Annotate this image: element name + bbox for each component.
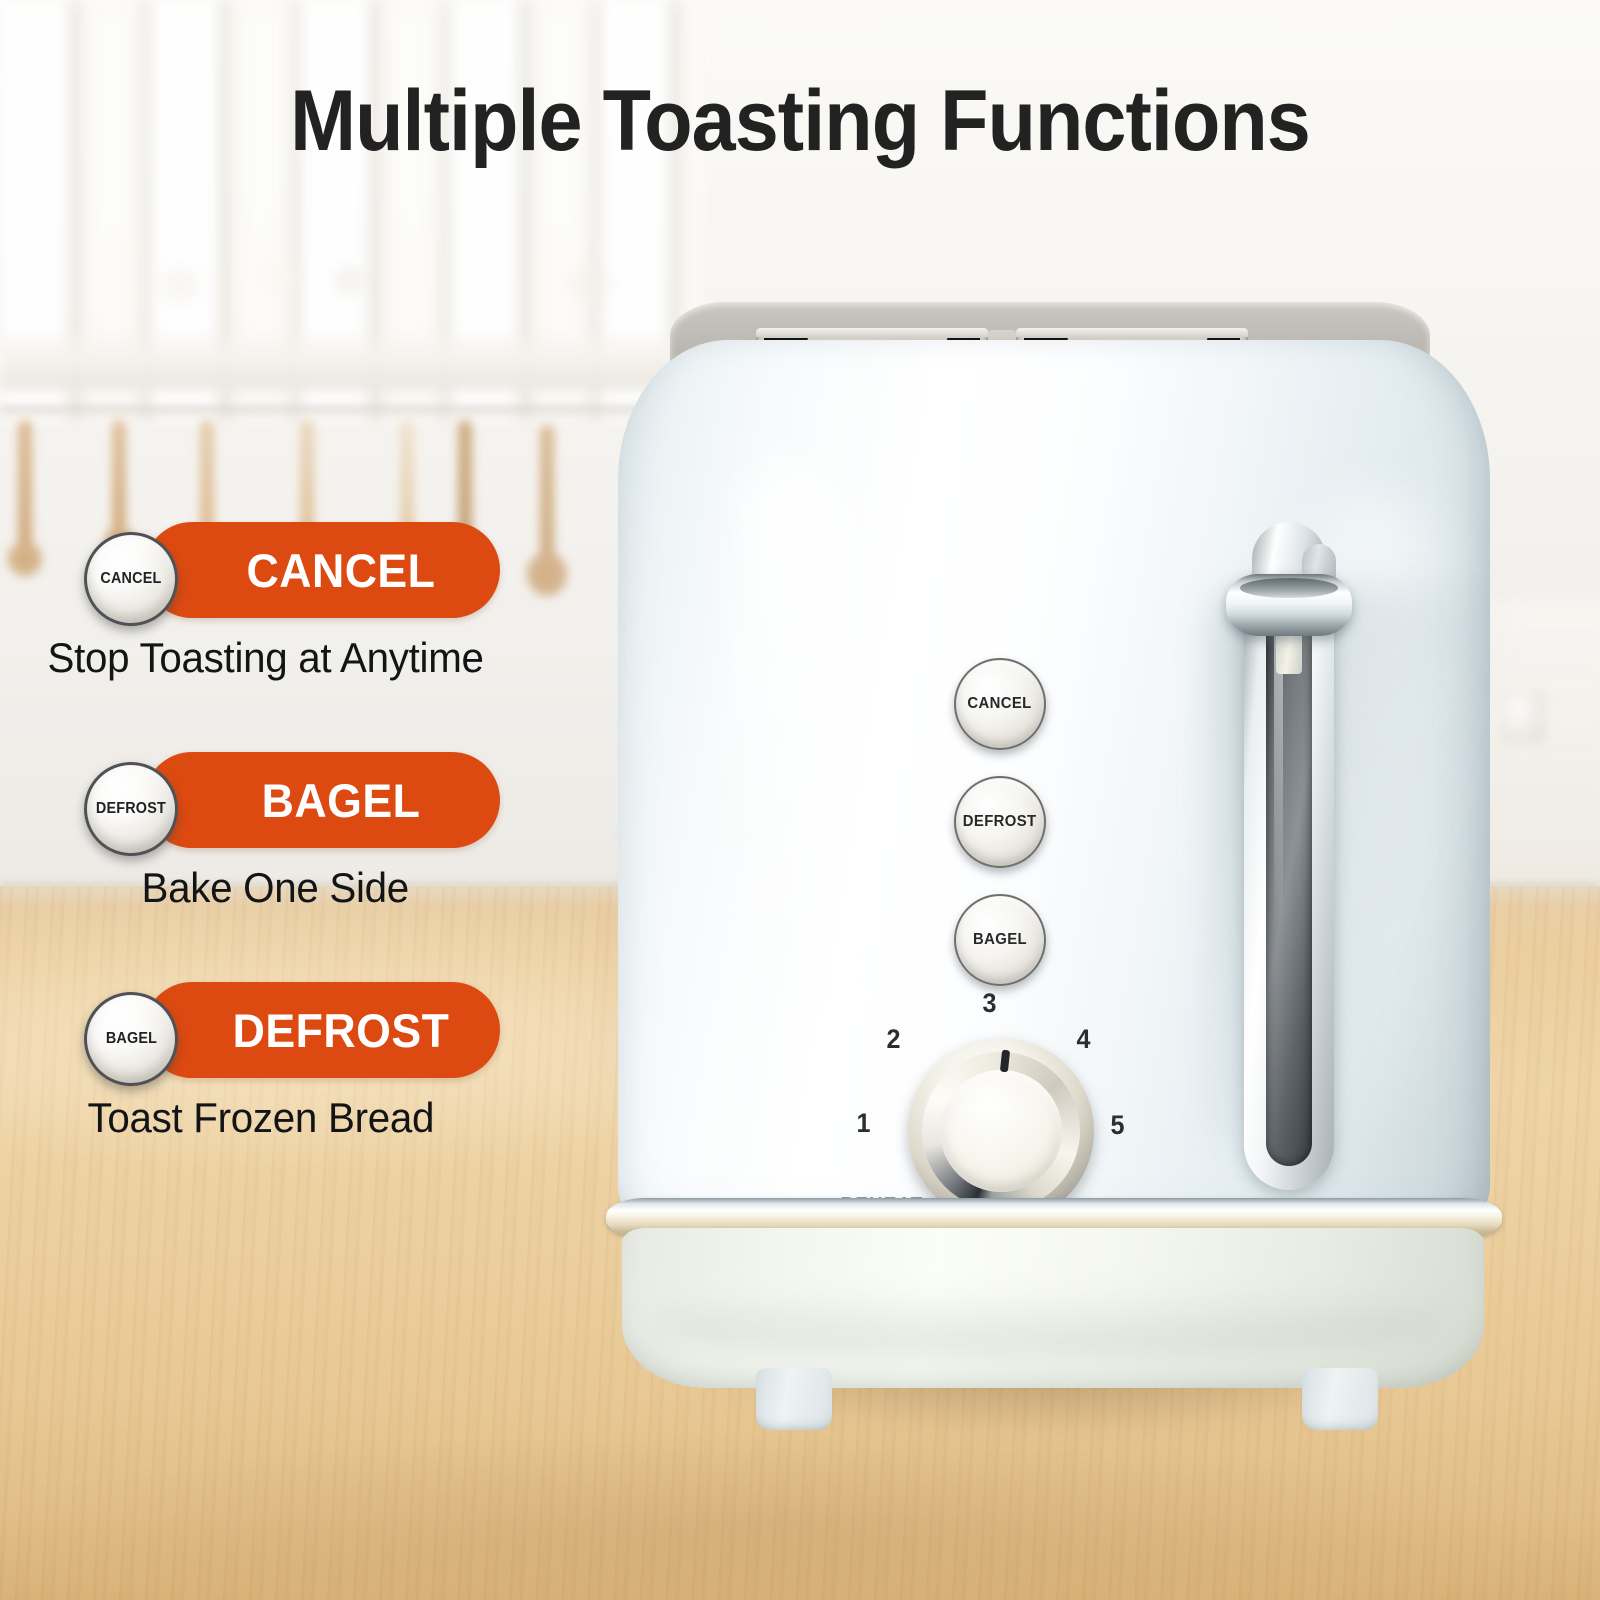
carriage-lever[interactable]	[1222, 522, 1354, 1190]
body-specular-highlight	[866, 508, 882, 530]
bagel-knob-icon-label: BAGEL	[105, 1030, 156, 1048]
toaster-product: CANCEL DEFROST BAGEL 1 2 3 4 5 6 REHEAT	[560, 280, 1570, 1390]
lever-track	[1266, 614, 1312, 1166]
defrost-caption: Toast Frozen Bread	[11, 1094, 549, 1142]
toaster-foot-left	[756, 1368, 832, 1430]
feature-callout-cancel: CANCEL CANCEL Stop Toasting at Anytime	[0, 522, 560, 682]
base-shading	[650, 1290, 1450, 1360]
toaster-body: CANCEL DEFROST BAGEL 1 2 3 4 5 6 REHEAT	[618, 340, 1490, 1240]
toaster-bagel-button[interactable]: BAGEL	[954, 894, 1046, 986]
dial-face	[940, 1070, 1062, 1192]
toaster-defrost-button[interactable]: DEFROST	[954, 776, 1046, 868]
toaster-bagel-button-label: BAGEL	[973, 931, 1027, 949]
cancel-pill-label: CANCEL	[153, 543, 491, 598]
lever-knob[interactable]	[1226, 574, 1352, 636]
toaster-foot-right	[1302, 1368, 1378, 1430]
dial-number-1: 1	[857, 1108, 871, 1139]
dial-number-4: 4	[1077, 1024, 1091, 1055]
feature-callout-bagel: DEFROST BAGEL Bake One Side	[0, 752, 560, 912]
bagel-caption: Bake One Side	[11, 864, 549, 912]
dial-number-5: 5	[1111, 1110, 1125, 1141]
product-feature-image: Multiple Toasting Functions	[0, 0, 1600, 1600]
bagel-pill: BAGEL	[144, 752, 500, 848]
cancel-pill: CANCEL	[144, 522, 500, 618]
cancel-caption: Stop Toasting at Anytime	[11, 634, 549, 682]
defrost-pill-label: DEFROST	[153, 1003, 491, 1058]
lever-knob-top	[1240, 578, 1338, 598]
bagel-pill-label: BAGEL	[153, 773, 491, 828]
cancel-knob-icon: CANCEL	[84, 532, 178, 626]
slot-lip	[756, 328, 988, 337]
browning-control-dial[interactable]	[908, 1038, 1094, 1224]
lever-track-highlight	[1274, 632, 1283, 932]
defrost-knob-icon: DEFROST	[84, 762, 178, 856]
defrost-knob-icon-label: DEFROST	[96, 800, 166, 818]
bagel-knob-icon: BAGEL	[84, 992, 178, 1086]
dial-number-2: 2	[887, 1024, 901, 1055]
body-gloss-left	[738, 460, 848, 1020]
toaster-defrost-button-label: DEFROST	[963, 813, 1037, 831]
cancel-knob-icon-label: CANCEL	[100, 570, 161, 588]
slot-lip	[1016, 328, 1248, 337]
feature-callout-defrost: BAGEL DEFROST Toast Frozen Bread	[0, 982, 560, 1142]
toaster-cancel-button-label: CANCEL	[968, 695, 1032, 713]
defrost-pill: DEFROST	[144, 982, 500, 1078]
dial-number-3: 3	[983, 988, 997, 1019]
feature-callout-list: CANCEL CANCEL Stop Toasting at Anytime D…	[0, 0, 560, 1600]
toaster-cancel-button[interactable]: CANCEL	[954, 658, 1046, 750]
